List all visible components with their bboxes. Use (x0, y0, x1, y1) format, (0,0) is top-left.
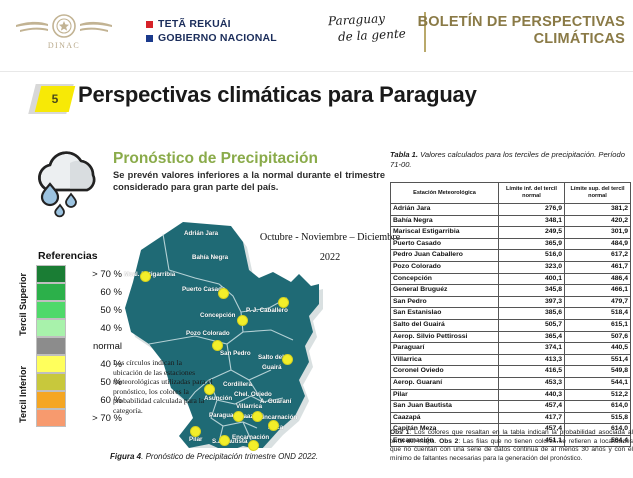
map-city-label: Cordillera (223, 381, 252, 388)
legend-swatch (36, 337, 66, 355)
cell-station: Paraguarí (391, 343, 499, 355)
gov-label-teta: TETÃ REKUÁI (158, 18, 231, 30)
table-row: San Pedro397,3479,7 (391, 296, 631, 308)
map-city-label: Chel. Oviedo (234, 391, 272, 398)
map-station-dot (140, 271, 151, 282)
gov-label-gobierno: GOBIERNO NACIONAL (158, 32, 277, 44)
badge-number: 5 (38, 86, 72, 112)
map-station-dot (190, 426, 201, 437)
cell-upper-limit: 512,2 (565, 389, 631, 401)
legend-swatch (36, 301, 66, 319)
cell-lower-limit: 385,6 (499, 308, 565, 320)
cell-upper-limit: 549,8 (565, 366, 631, 378)
cell-upper-limit: 507,6 (565, 331, 631, 343)
legend-label: 50 % (66, 305, 122, 316)
blue-square-icon (146, 35, 153, 42)
cell-upper-limit: 617,2 (565, 250, 631, 262)
legend-label: > 70 % (66, 269, 122, 280)
legend-label: 40 % (66, 323, 122, 334)
map-city-label: Salto del (258, 354, 284, 361)
section-badge: 5 (30, 84, 74, 116)
map-city-label: P. J. Caballero (246, 307, 288, 314)
cell-upper-limit: 466,1 (565, 285, 631, 297)
legend-swatch (36, 355, 66, 373)
map-station-dot (268, 420, 279, 431)
cell-upper-limit: 615,1 (565, 319, 631, 331)
cell-upper-limit: 381,2 (565, 204, 631, 216)
legend-row: 40 % (36, 319, 132, 337)
map-city-label: Adrián Jara (184, 230, 218, 237)
cell-lower-limit: 400,1 (499, 273, 565, 285)
cell-lower-limit: 365,4 (499, 331, 565, 343)
table-row: Pozo Colorado323,0461,7 (391, 261, 631, 273)
map-station-dot (252, 411, 263, 422)
map-city-label: Pilar (189, 436, 202, 443)
cell-lower-limit: 323,0 (499, 261, 565, 273)
table-title-label: Tabla 1. (390, 150, 418, 159)
map-station-dot (237, 315, 248, 326)
map-city-label: Bahía Negra (192, 254, 228, 261)
table-row: General Bruguéz345,8466,1 (391, 285, 631, 297)
table-row: Aerop. Guaraní453,3544,1 (391, 377, 631, 389)
cell-station: Puerto Casado (391, 238, 499, 250)
cell-lower-limit: 249,5 (499, 227, 565, 239)
cell-station: San Juan Bautista (391, 401, 499, 413)
cell-station: Villarrica (391, 354, 499, 366)
cell-station: Concepción (391, 273, 499, 285)
map-period-line2: 2022 (255, 252, 405, 263)
map-period-line1: Octubre - Noviembre – Diciembre (255, 232, 405, 243)
cell-station: General Bruguéz (391, 285, 499, 297)
cell-station: Pilar (391, 389, 499, 401)
table-row: San Juan Bautista457,4614,0 (391, 401, 631, 413)
map-city-label: Encarnación (260, 414, 297, 421)
red-square-icon (146, 21, 153, 28)
cell-upper-limit: 484,9 (565, 238, 631, 250)
cell-station: San Pedro (391, 296, 499, 308)
cell-lower-limit: 276,9 (499, 204, 565, 216)
legend-label: 60 % (66, 287, 122, 298)
table-body: Adrián Jara276,9381,2Bahía Negra348,1420… (391, 204, 631, 447)
legend-title: Referencias (38, 250, 98, 262)
legend-swatch (36, 265, 66, 283)
col-station: Estación Meteorológica (391, 183, 499, 204)
note1-label: Obs 1 (390, 429, 409, 436)
figure-caption: Figura 4. Pronóstico de Precipitación tr… (110, 452, 390, 461)
legend-swatch (36, 373, 66, 391)
legend-row: 50 % (36, 301, 132, 319)
cell-lower-limit: 374,1 (499, 343, 565, 355)
figure-caption-label: Figura 4 (110, 452, 141, 461)
table-row: Aerop. Silvio Pettirossi365,4507,6 (391, 331, 631, 343)
cell-station: San Estanislao (391, 308, 499, 320)
legend-upper-tercile-label: Tercil Superior (18, 273, 28, 336)
table-title-text: Valores calculados para los terciles de … (390, 150, 625, 169)
legend-swatch (36, 409, 66, 427)
table-row: Coronel Oviedo416,5549,8 (391, 366, 631, 378)
col-lower-limit: Límite inf. del tercil normal (499, 183, 565, 204)
map-city-label: Pozo Colorado (186, 330, 230, 337)
note2-label: Obs 2 (439, 438, 458, 445)
map-station-dot (219, 435, 230, 446)
legend-upper-tercile-axis: Tercil Superior (16, 269, 30, 339)
table-row: Adrián Jara276,9381,2 (391, 204, 631, 216)
legend-row: > 70 % (36, 265, 132, 283)
table-row: Bahía Negra348,1420,2 (391, 215, 631, 227)
cell-upper-limit: 518,4 (565, 308, 631, 320)
cell-lower-limit: 440,3 (499, 389, 565, 401)
map-city-label: A. Guaraní (260, 398, 291, 405)
table-row: Salto del Guairá505,7615,1 (391, 319, 631, 331)
table-row: Pedro Juan Caballero516,0617,2 (391, 250, 631, 262)
page-title-row: 5 Perspectivas climáticas para Paraguay (0, 82, 633, 118)
map-station-dot (233, 411, 244, 422)
gov-line-teta: TETÃ REKUÁI (146, 18, 277, 30)
cell-station: Salto del Guairá (391, 319, 499, 331)
cell-upper-limit: 614,0 (565, 401, 631, 413)
government-branding: TETÃ REKUÁI GOBIERNO NACIONAL (146, 18, 277, 46)
page-header: DINAC TETÃ REKUÁI GOBIERNO NACIONAL Para… (0, 0, 633, 72)
legend-row: 60 % (36, 283, 132, 301)
cell-lower-limit: 413,3 (499, 354, 565, 366)
map-station-dot (248, 440, 259, 451)
table-row: Villarrica413,3551,4 (391, 354, 631, 366)
cell-station: Bahía Negra (391, 215, 499, 227)
figure-caption-text: . Pronóstico de Precipitación trimestre … (141, 452, 318, 461)
dinac-wings-icon (14, 12, 114, 40)
cell-upper-limit: 479,7 (565, 296, 631, 308)
cell-upper-limit: 515,8 (565, 412, 631, 424)
cell-lower-limit: 453,3 (499, 377, 565, 389)
map-legend-note: Los círculos indican la ubicación de las… (113, 358, 213, 416)
table-row: Mariscal Estigarribia249,5301,9 (391, 227, 631, 239)
cell-station: Aerop. Silvio Pettirossi (391, 331, 499, 343)
legend-row: normal (36, 337, 132, 355)
map-station-dot (218, 288, 229, 299)
dinac-logo: DINAC (14, 8, 114, 60)
legend-label: normal (66, 341, 122, 352)
cell-upper-limit: 420,2 (565, 215, 631, 227)
table-notes: Obs 1: Los colores que resaltan en la ta… (390, 429, 633, 463)
bulletin-title: BOLETÍN DE PERSPECTIVAS CLIMÁTICAS (365, 14, 625, 48)
cell-lower-limit: 417,7 (499, 412, 565, 424)
dinac-logo-text: DINAC (14, 41, 114, 50)
legend-lower-tercile-axis: Tercil Inferior (16, 357, 30, 431)
map-city-label: Guairá (262, 364, 282, 371)
cell-lower-limit: 345,8 (499, 285, 565, 297)
cell-upper-limit: 486,4 (565, 273, 631, 285)
header-rule (0, 71, 633, 72)
cell-station: Mariscal Estigarribia (391, 227, 499, 239)
tercile-values-table: Estación Meteorológica Límite inf. del t… (390, 182, 630, 447)
cell-lower-limit: 516,0 (499, 250, 565, 262)
table: Estación Meteorológica Límite inf. del t… (390, 182, 631, 447)
cell-station: Aerop. Guaraní (391, 377, 499, 389)
cell-lower-limit: 365,9 (499, 238, 565, 250)
table-row: Concepción400,1486,4 (391, 273, 631, 285)
cell-station: Adrián Jara (391, 204, 499, 216)
cell-lower-limit: 457,4 (499, 401, 565, 413)
cell-station: Pedro Juan Caballero (391, 250, 499, 262)
cell-upper-limit: 544,1 (565, 377, 631, 389)
map-city-label: Villarrica (236, 403, 262, 410)
cell-upper-limit: 301,9 (565, 227, 631, 239)
cell-station: Coronel Oviedo (391, 366, 499, 378)
table-row: San Estanislao385,6518,4 (391, 308, 631, 320)
table-row: Paraguarí374,1440,5 (391, 343, 631, 355)
table-row: Pilar440,3512,2 (391, 389, 631, 401)
col-upper-limit: Límite sup. del tercil normal (565, 183, 631, 204)
forecast-summary: Se prevén valores inferiores a la normal… (113, 170, 385, 193)
forecast-heading: Pronóstico de Precipitación (113, 150, 318, 168)
cell-lower-limit: 397,3 (499, 296, 565, 308)
cell-lower-limit: 348,1 (499, 215, 565, 227)
legend-swatch (36, 283, 66, 301)
cell-lower-limit: 416,5 (499, 366, 565, 378)
map-city-label: San Pedro (220, 350, 251, 357)
cell-upper-limit: 440,5 (565, 343, 631, 355)
map-station-dot (282, 354, 293, 365)
table-row: Puerto Casado365,9484,9 (391, 238, 631, 250)
table-row: Caazapá417,7515,8 (391, 412, 631, 424)
page-title: Perspectivas climáticas para Paraguay (78, 82, 477, 108)
table-header-row: Estación Meteorológica Límite inf. del t… (391, 183, 631, 204)
cell-station: Caazapá (391, 412, 499, 424)
legend-lower-tercile-label: Tercil Inferior (18, 366, 28, 423)
legend-swatch (36, 319, 66, 337)
map-station-dot (278, 297, 289, 308)
table-title: Tabla 1. Valores calculados para los ter… (390, 150, 630, 170)
cell-station: Pozo Colorado (391, 261, 499, 273)
gov-line-gobierno: GOBIERNO NACIONAL (146, 32, 277, 44)
cell-upper-limit: 551,4 (565, 354, 631, 366)
rain-cloud-icon (24, 150, 116, 222)
map-station-dot (212, 340, 223, 351)
cell-lower-limit: 505,7 (499, 319, 565, 331)
cell-upper-limit: 461,7 (565, 261, 631, 273)
legend-swatch (36, 391, 66, 409)
map-city-label: Concepción (200, 312, 235, 319)
